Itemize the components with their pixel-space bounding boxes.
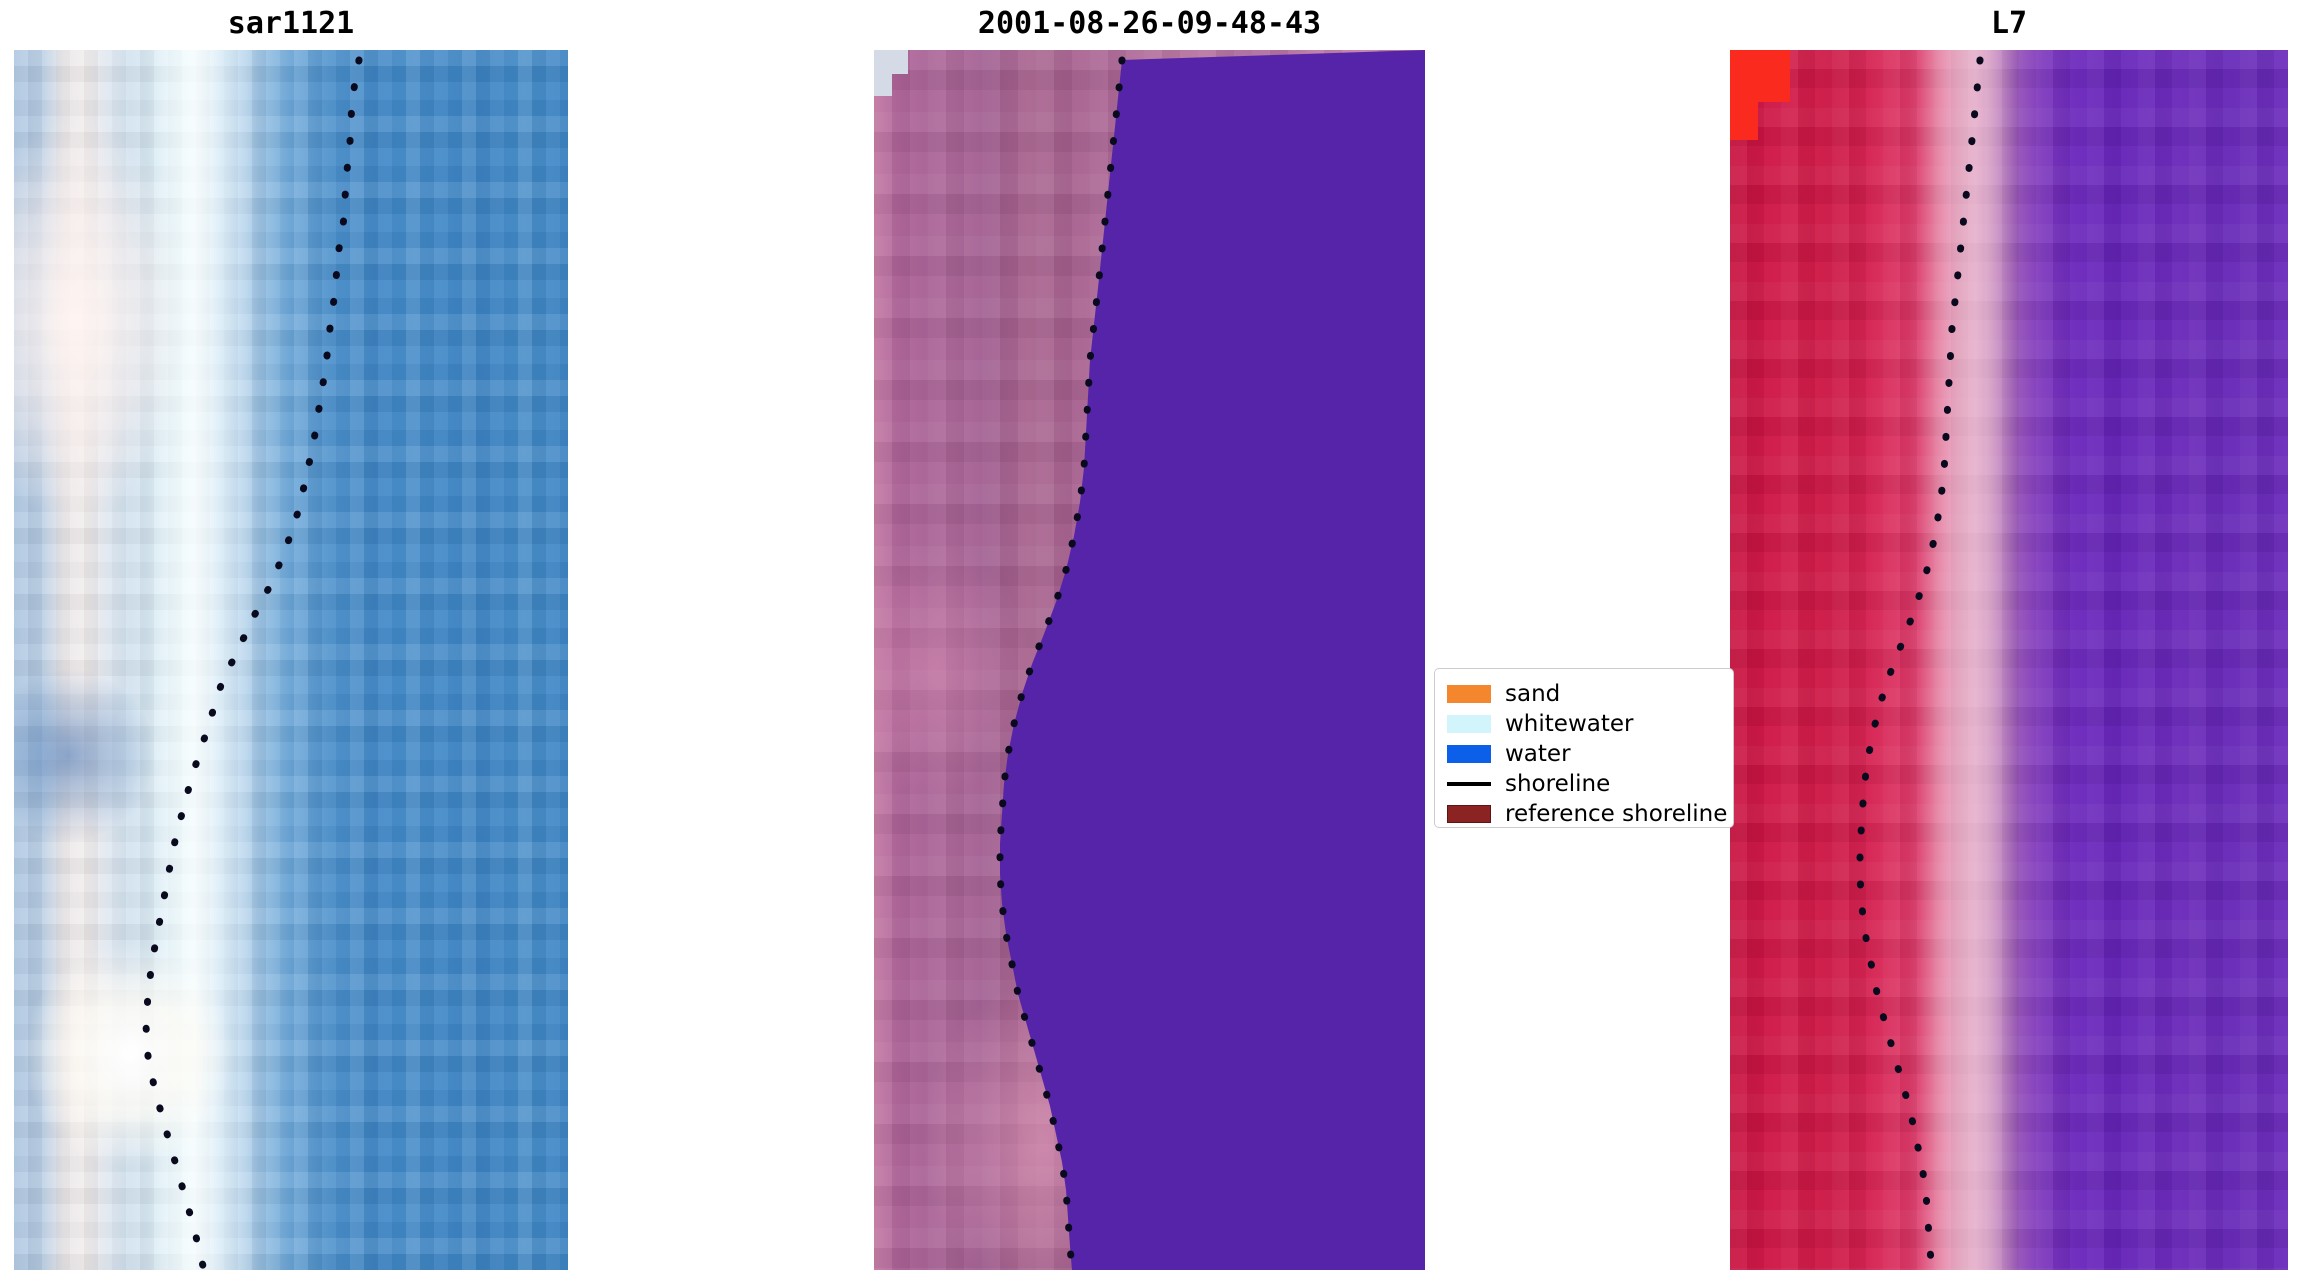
- figure-canvas: sar1121 2001-08-26-09-48-43 L7: [0, 0, 2297, 1283]
- legend-item-whitewater[interactable]: whitewater: [1447, 709, 1733, 739]
- legend-box[interactable]: sand whitewater water shoreline referenc…: [1434, 668, 1734, 828]
- legend-item-shoreline[interactable]: shoreline: [1447, 769, 1733, 799]
- legend-swatch-sand: [1447, 685, 1491, 703]
- l7-beach-band-layer: [1730, 50, 2288, 1270]
- legend-item-sand[interactable]: sand: [1447, 679, 1733, 709]
- legend-swatch-reference-shoreline-buffer: [1447, 805, 1491, 823]
- panel-title-l7: L7: [1730, 6, 2288, 41]
- cloud-patch-b: [874, 74, 892, 96]
- panel-title-sar: sar1121: [14, 6, 568, 41]
- panel-classification-image[interactable]: [874, 50, 1425, 1270]
- legend-item-reference-shoreline-buffer[interactable]: reference shoreline buffer: [1447, 799, 1733, 828]
- legend-label-reference-shoreline-buffer: reference shoreline buffer: [1505, 803, 1734, 826]
- cloud-patch-a: [874, 50, 908, 74]
- panel-title-classification: 2001-08-26-09-48-43: [874, 6, 1425, 41]
- legend-item-water[interactable]: water: [1447, 739, 1733, 769]
- legend-label-shoreline: shoreline: [1505, 773, 1610, 796]
- legend-swatch-shoreline: [1447, 782, 1491, 786]
- sar-bright-patch-bottom: [14, 50, 568, 1270]
- panel-sar-image[interactable]: [14, 50, 568, 1270]
- l7-anomaly-patch-tail: [1730, 50, 1758, 140]
- legend-swatch-water: [1447, 745, 1491, 763]
- legend-label-sand: sand: [1505, 683, 1560, 706]
- panel-l7-image[interactable]: [1730, 50, 2288, 1270]
- legend-label-whitewater: whitewater: [1505, 713, 1633, 736]
- legend-swatch-whitewater: [1447, 715, 1491, 733]
- legend-label-water: water: [1505, 743, 1571, 766]
